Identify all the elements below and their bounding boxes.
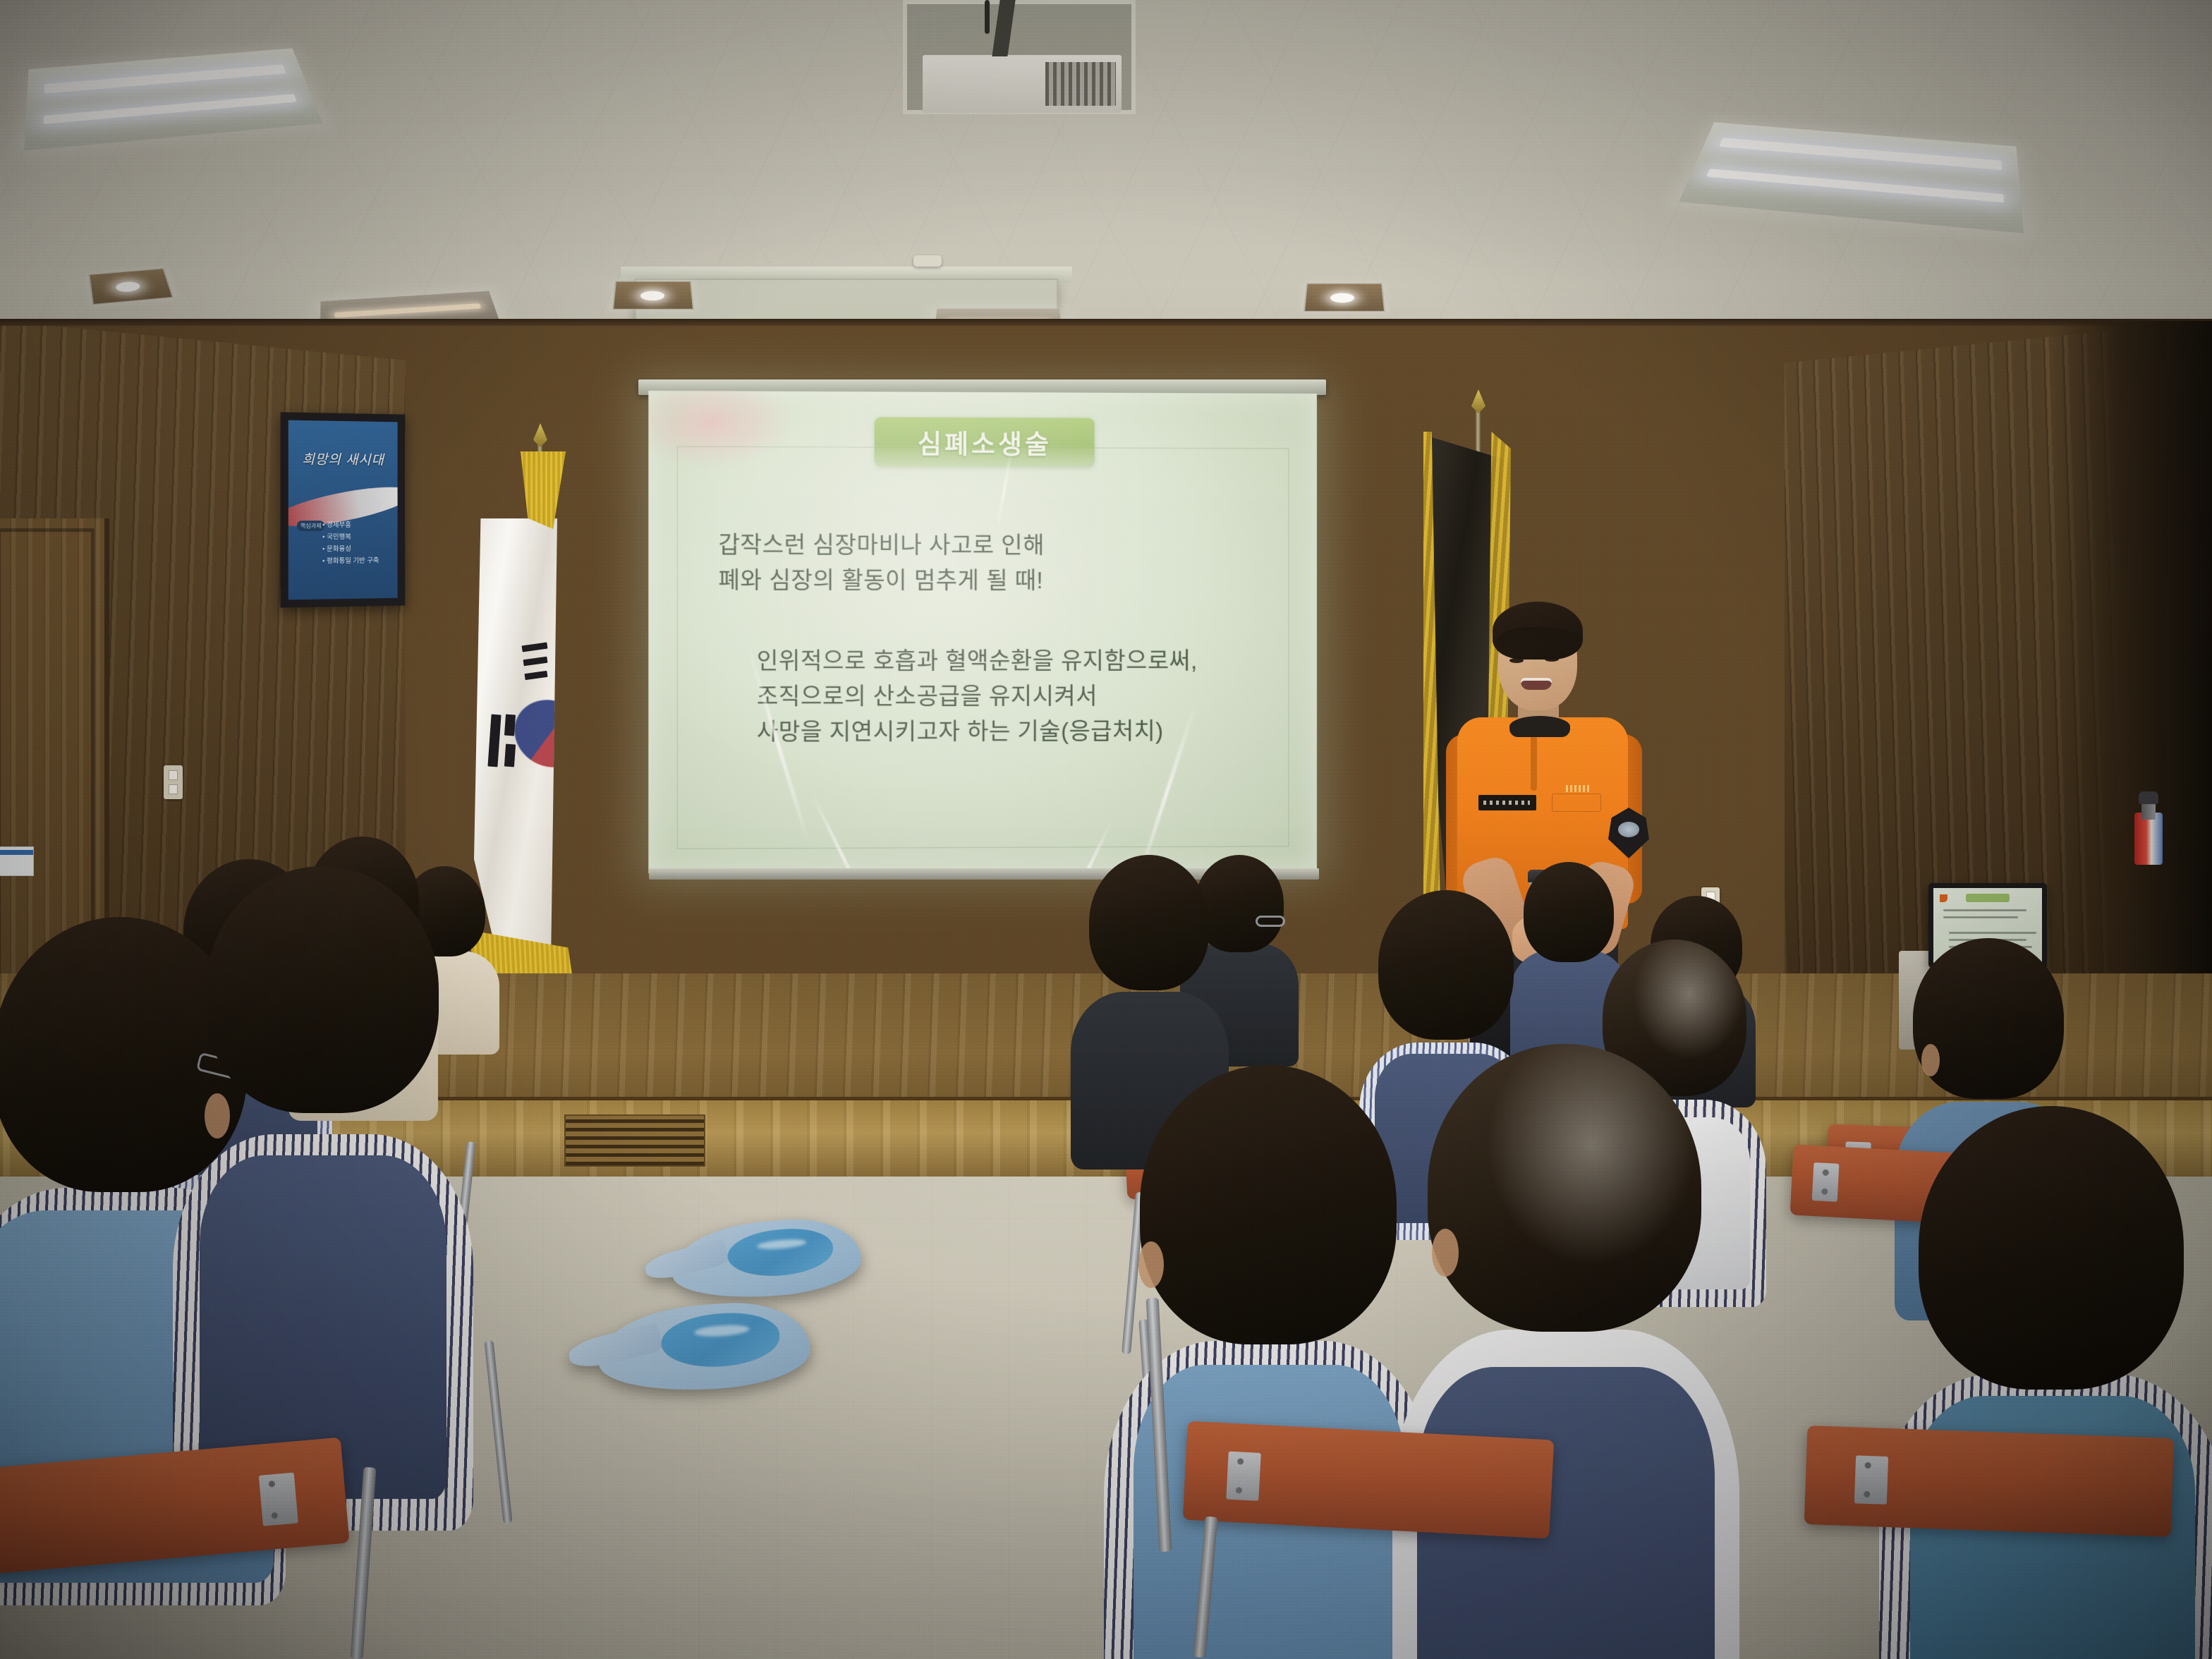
trigram-3 <box>525 671 548 680</box>
presenter-hair <box>1493 602 1583 660</box>
stage-vent-grille <box>564 1114 705 1167</box>
projector-recess <box>903 0 1136 114</box>
head <box>1428 1044 1701 1332</box>
ear <box>1138 1241 1164 1288</box>
cpr-manikin-2 <box>595 1298 813 1397</box>
presenter-name-tag <box>1478 795 1536 810</box>
downlight-3 <box>1303 283 1385 312</box>
head <box>1919 1106 2184 1390</box>
wall-poster: 희망의 새시대 핵심과제 경제부흥 국민행복 문화융성 평화통일 기반 구축 <box>281 412 406 607</box>
laptop-corner-marker <box>1940 894 1947 902</box>
chair-front-center[interactable] <box>1183 1421 1555 1538</box>
trigram-2 <box>523 657 548 667</box>
head <box>206 866 439 1113</box>
projector-icon <box>923 55 1122 113</box>
poster-title: 희망의 새시대 <box>288 449 398 469</box>
slide-title-band: 심폐소생술 <box>875 417 1095 467</box>
audience-member-front-5 <box>1897 1106 2208 1659</box>
presenter-collar <box>1509 716 1570 737</box>
projector-cable <box>985 0 990 34</box>
laptop-slide-title-band <box>1966 894 2010 902</box>
fire-extinguisher-icon <box>2134 789 2163 865</box>
chair-front-right-2[interactable] <box>1804 1426 2175 1537</box>
head <box>1913 938 2064 1099</box>
audience-member-front-2 <box>189 866 457 1402</box>
poster-bullet-3: 문화융성 <box>322 542 394 555</box>
presenter-zip-placket <box>1531 733 1537 791</box>
slide-line-2: 폐와 심장의 활동이 멈추게 될 때! <box>718 563 1045 599</box>
head <box>1089 855 1209 990</box>
poster-bullet-2: 국민행복 <box>322 530 394 542</box>
ear <box>1432 1229 1459 1277</box>
poster-bullet-1: 경제부흥 <box>322 518 394 530</box>
slide-paragraph-1: 갑작스런 심장마비나 사고로 인해 폐와 심장의 활동이 멈추게 될 때! <box>718 527 1045 598</box>
glasses-icon <box>1256 916 1285 927</box>
head <box>1378 890 1514 1040</box>
door-sign <box>0 846 34 876</box>
slide-paragraph-2: 인위적으로 호흡과 혈액순환을 유지함으로써, 조직으로의 산소공급을 유지시켜… <box>757 643 1198 750</box>
auditorium-photo: 희망의 새시대 핵심과제 경제부흥 국민행복 문화융성 평화통일 기반 구축 심… <box>0 0 2212 1659</box>
presenter-mouth <box>1521 678 1552 690</box>
poster-tag: 핵심과제 <box>297 521 325 531</box>
wall-ceiling-trim <box>0 319 2212 326</box>
ear <box>1921 1044 1940 1076</box>
slide-line-5: 사망을 지연시키고자 하는 기술(응급처치) <box>757 714 1198 750</box>
trigram-6 <box>504 744 516 767</box>
poster-bullet-4: 평화통일 기반 구축 <box>322 554 394 567</box>
projector-vents <box>1045 62 1116 106</box>
head <box>1140 1065 1397 1344</box>
audience-member-front-3 <box>1122 1065 1418 1659</box>
smoke-detector-icon <box>913 255 942 267</box>
presenter-chest-logo <box>1566 785 1591 792</box>
projection-screen: 심폐소생술 갑작스런 심장마비나 사고로 인해 폐와 심장의 활동이 멈추게 될… <box>648 391 1317 873</box>
trigram-1 <box>522 643 548 652</box>
slide-title: 심폐소생술 <box>918 423 1052 462</box>
slide-line-4: 조직으로의 산소공급을 유지시켜서 <box>757 679 1198 715</box>
trigram-5 <box>504 715 516 736</box>
slide-line-3: 인위적으로 호흡과 혈액순환을 유지함으로써, <box>757 643 1198 679</box>
trigram-4 <box>487 715 501 767</box>
light-switch[interactable] <box>164 765 183 799</box>
poster-artwork: 희망의 새시대 핵심과제 경제부흥 국민행복 문화융성 평화통일 기반 구축 <box>288 420 398 600</box>
poster-bullets: 경제부흥 국민행복 문화융성 평화통일 기반 구축 <box>322 518 394 566</box>
audience-member-front-4 <box>1411 1044 1721 1659</box>
presenter-chest-pocket <box>1552 794 1601 812</box>
downlight-2 <box>612 281 694 310</box>
